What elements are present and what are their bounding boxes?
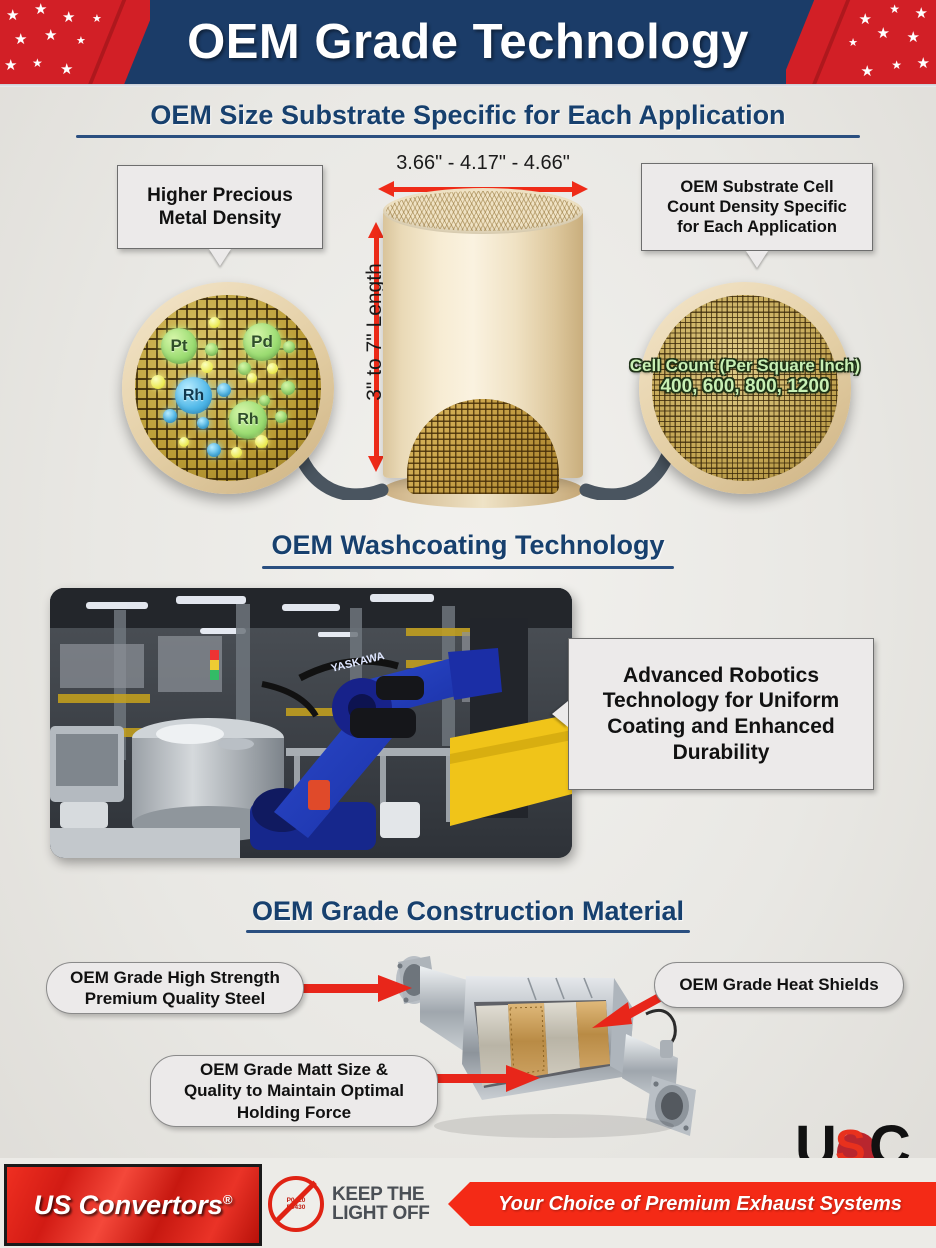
keep-light-line-2: LIGHT OFF [332, 1204, 430, 1223]
cell-count-title: Cell Count (Per Square Inch) [595, 356, 895, 376]
particle-dot [255, 435, 268, 448]
section-underline-washcoating [262, 566, 674, 569]
particle-dot [163, 409, 177, 423]
particle-dot [217, 383, 231, 397]
particle-dot [179, 437, 189, 447]
callout-high-strength-steel-text: OEM Grade High Strength Premium Quality … [70, 967, 280, 1009]
section-underline-construction [246, 930, 690, 933]
particle-dot [267, 363, 278, 374]
precious-metal-pt: Pt [161, 328, 197, 364]
section-title-washcoating: OEM Washcoating Technology [0, 530, 936, 561]
callout-high-strength-steel: OEM Grade High Strength Premium Quality … [46, 962, 304, 1014]
brand-name: US Convertors [34, 1190, 223, 1220]
particle-dot [201, 361, 213, 373]
tagline-banner: Your Choice of Premium Exhaust Systems [448, 1182, 936, 1226]
cell-count-values: 400, 600, 800, 1200 [595, 376, 895, 398]
particle-dot [197, 417, 209, 429]
callout-heat-shields-text: OEM Grade Heat Shields [679, 974, 878, 995]
callout-cell-count-density: OEM Substrate Cell Count Density Specifi… [641, 163, 873, 251]
keep-light-off-badge: P0420 P0430 KEEP THE LIGHT OFF [268, 1176, 438, 1232]
particle-dot [207, 443, 221, 457]
callout-tail-left [209, 249, 231, 266]
particle-dot [275, 411, 287, 423]
brand-logo-box[interactable]: US Convertors® [4, 1164, 262, 1246]
callout-heat-shields: OEM Grade Heat Shields [654, 962, 904, 1008]
particle-dot [259, 395, 270, 406]
brand-registered-mark: ® [223, 1192, 233, 1207]
substrate-cylinder [383, 188, 583, 494]
particle-dot [209, 317, 220, 328]
callout-tail-robotics [552, 701, 568, 727]
page-footer: US Convertors® P0420 P0430 KEEP THE LIGH… [0, 1158, 936, 1248]
keep-light-line-1: KEEP THE [332, 1185, 430, 1204]
arrow-to-steel [300, 975, 412, 1003]
particle-dot [231, 447, 242, 458]
callout-advanced-robotics-text: Advanced Robotics Technology for Uniform… [603, 663, 839, 765]
callout-cell-count-density-text: OEM Substrate Cell Count Density Specifi… [667, 177, 847, 237]
section-underline-substrate [76, 135, 860, 138]
section-title-construction: OEM Grade Construction Material [0, 896, 936, 927]
page-header: ★ ★ ★ ★ ★ ★ ★ ★ ★ ★ OEM Grade Technology… [0, 0, 936, 84]
callout-precious-metal-density: Higher Precious Metal Density [117, 165, 323, 249]
diameter-label: 3.66" - 4.17" - 4.66" [368, 152, 598, 175]
precious-metal-pd: Pd [243, 323, 281, 361]
particle-dot [247, 373, 257, 383]
magnified-substrate-precious-metals: Pt Pd Rh Rh [122, 282, 334, 494]
keep-light-off-text: KEEP THE LIGHT OFF [332, 1185, 430, 1224]
precious-metal-rh-green: Rh [229, 401, 267, 439]
precious-metal-rh-blue: Rh [175, 377, 212, 414]
tagline-text: Your Choice of Premium Exhaust Systems [482, 1193, 902, 1216]
callout-advanced-robotics: Advanced Robotics Technology for Uniform… [568, 638, 874, 790]
stars-decor-right: ★ ★ ★ ★ ★ ★ ★ ★ ★ [786, 0, 936, 84]
callout-matt-holding-force-text: OEM Grade Matt Size & Quality to Maintai… [184, 1059, 404, 1122]
callout-tail-right [746, 251, 768, 268]
particle-dot [205, 343, 218, 356]
washcoating-robot-photo: YASKAWA [50, 588, 572, 858]
substrate-cutaway [407, 399, 559, 494]
substrate-top-face [383, 188, 583, 234]
no-check-engine-light-icon: P0420 P0430 [268, 1176, 324, 1232]
callout-matt-holding-force: OEM Grade Matt Size & Quality to Maintai… [150, 1055, 438, 1127]
infographic-page: ★ ★ ★ ★ ★ ★ ★ ★ ★ ★ OEM Grade Technology… [0, 0, 936, 1248]
brand-logo-text: US Convertors® [34, 1190, 233, 1221]
header-divider [0, 84, 936, 87]
arrow-to-matt [432, 1064, 540, 1094]
particle-dot [283, 341, 295, 353]
particle-dot [281, 381, 295, 395]
callout-precious-metal-density-text: Higher Precious Metal Density [147, 184, 293, 230]
section-title-substrate: OEM Size Substrate Specific for Each App… [0, 100, 936, 131]
particle-dot [151, 375, 165, 389]
